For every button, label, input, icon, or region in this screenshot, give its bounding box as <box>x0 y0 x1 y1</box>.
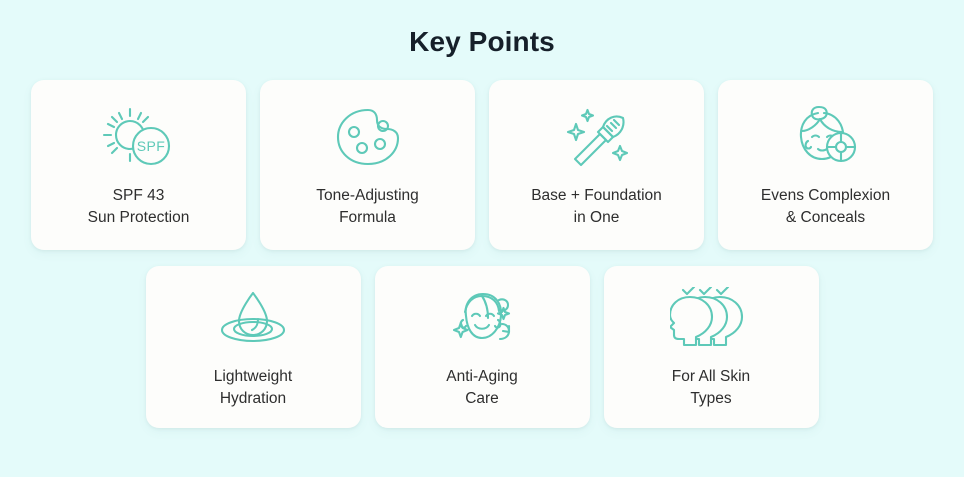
key-point-label: Base + Foundation in One <box>523 185 670 229</box>
svg-text:SPF: SPF <box>136 138 164 154</box>
key-point-card[interactable]: Base + Foundation in One <box>489 80 704 250</box>
key-point-card[interactable]: SPF SPF 43 Sun Protection <box>31 80 246 250</box>
key-point-label: Evens Complexion & Conceals <box>753 185 898 229</box>
card-row-two: Lightweight Hydration <box>0 266 964 428</box>
sun-spf-icon: SPF <box>31 101 246 173</box>
cards-container: SPF SPF 43 Sun Protection Tone-Adjusting… <box>0 80 964 428</box>
key-point-label: Anti-Aging Care <box>438 366 526 410</box>
key-point-card[interactable]: Evens Complexion & Conceals <box>718 80 933 250</box>
key-point-label: For All Skin Types <box>664 366 758 410</box>
makeup-brush-sparkle-icon <box>489 101 704 173</box>
key-point-card[interactable]: Tone-Adjusting Formula <box>260 80 475 250</box>
water-droplet-ripple-icon <box>146 284 361 352</box>
key-point-label: SPF 43 Sun Protection <box>80 185 198 229</box>
key-point-card[interactable]: For All Skin Types <box>604 266 819 428</box>
card-row-one: SPF SPF 43 Sun Protection Tone-Adjusting… <box>0 80 964 250</box>
face-bun-flower-icon <box>718 101 933 173</box>
key-point-card[interactable]: Lightweight Hydration <box>146 266 361 428</box>
three-heads-check-icon <box>604 284 819 352</box>
key-point-card[interactable]: Anti-Aging Care <box>375 266 590 428</box>
key-points-infographic: Key Points <box>0 0 964 477</box>
key-point-label: Lightweight Hydration <box>206 366 300 410</box>
key-point-label: Tone-Adjusting Formula <box>308 185 427 229</box>
smiling-face-refresh-icon <box>375 284 590 352</box>
page-title: Key Points <box>0 0 964 59</box>
paint-palette-icon <box>260 101 475 173</box>
